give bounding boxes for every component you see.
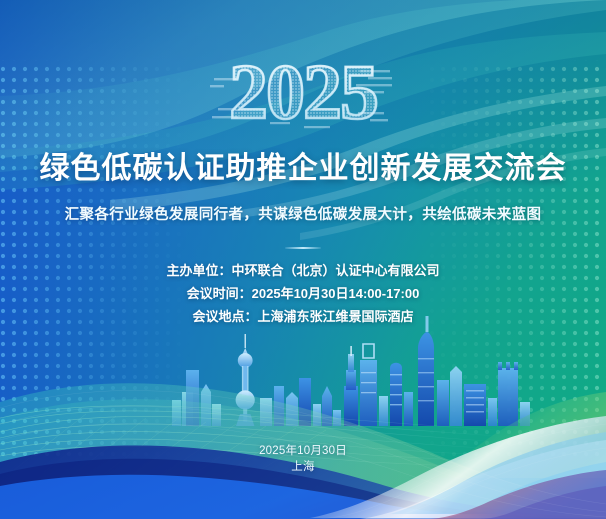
page-subtitle: 汇聚各行业绿色发展同行者，共谋绿色低碳发展大计，共绘低碳未来蓝图 [0,203,606,224]
event-details: 主办单位：中环联合（北京）认证中心有限公司 会议时间：2025年10月30日14… [0,259,606,328]
detail-location: 会议地点：上海浦东张江维景国际酒店 [0,305,606,328]
conference-poster: 2025 2025 绿色低碳认证助推企业创新发展交流会 汇聚各行业绿色发展同行者… [0,0,606,519]
year-badge-2025: 2025 2025 [0,52,606,144]
poster-footer: 2025年10月30日 上海 [0,444,606,475]
title-divider [285,247,321,249]
footer-date: 2025年10月30日 [0,444,606,459]
detail-organizer: 主办单位：中环联合（北京）认证中心有限公司 [0,259,606,282]
svg-text:2025: 2025 [229,52,377,135]
detail-time: 会议时间：2025年10月30日14:00-17:00 [0,282,606,305]
footer-city: 上海 [0,459,606,475]
page-title: 绿色低碳认证助推企业创新发展交流会 [0,152,606,187]
